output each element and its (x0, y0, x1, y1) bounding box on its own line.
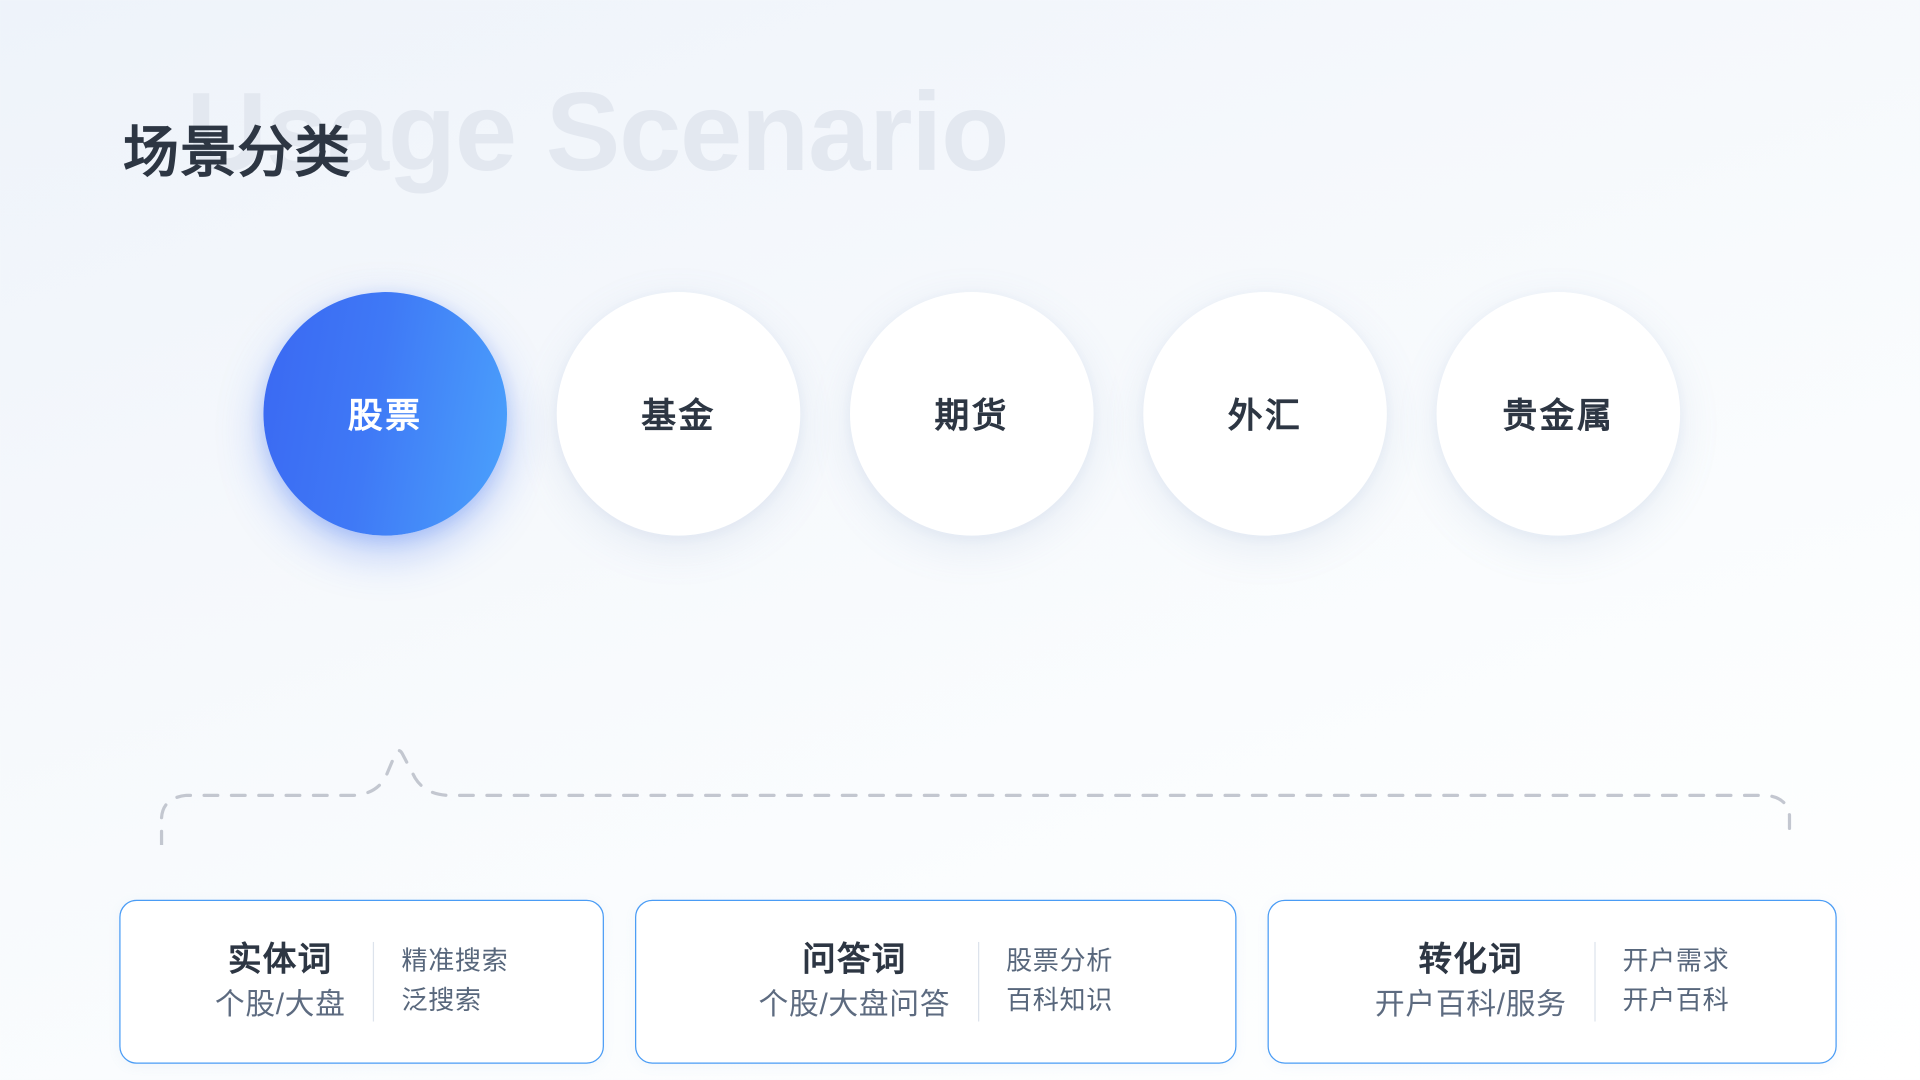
keyword-card-conversion[interactable]: 转化词 开户百科/服务 开户需求 开户百科 (1268, 900, 1837, 1064)
card-tag: 开户百科 (1622, 987, 1729, 1017)
page-title: 场景分类 (123, 121, 352, 185)
card-tag-group: 精准搜索 泛搜索 (374, 947, 508, 1017)
card-subtitle: 开户百科/服务 (1375, 989, 1567, 1022)
scenario-tab-forex[interactable]: 外汇 (1143, 292, 1387, 536)
keyword-card-row: 实体词 个股/大盘 精准搜索 泛搜索 问答词 个股/大盘问答 股票分析 (119, 900, 1836, 1064)
card-tag: 泛搜索 (401, 987, 508, 1017)
scenario-tab-label: 股票 (348, 389, 423, 439)
scenario-tab-fund[interactable]: 基金 (557, 292, 801, 536)
usage-scenario-panel: Usage Scenario 场景分类 股票 基金 期货 外汇 贵金属 实体词 (0, 0, 1920, 1080)
card-tag: 股票分析 (1006, 947, 1113, 977)
scenario-tab-label: 基金 (641, 389, 716, 439)
card-tag-group: 股票分析 百科知识 (979, 947, 1113, 1017)
card-content: 实体词 个股/大盘 精准搜索 泛搜索 (215, 942, 508, 1022)
card-tag: 精准搜索 (401, 947, 508, 977)
panel-header: Usage Scenario 场景分类 (0, 0, 1920, 261)
card-title: 转化词 (1375, 942, 1567, 979)
scenario-tab-futures[interactable]: 期货 (850, 292, 1094, 536)
scenario-tab-row: 股票 基金 期货 外汇 贵金属 (263, 291, 1687, 537)
card-subtitle: 个股/大盘问答 (759, 989, 951, 1022)
keyword-card-qa[interactable]: 问答词 个股/大盘问答 股票分析 百科知识 (635, 900, 1236, 1064)
scenario-tab-precious-metal[interactable]: 贵金属 (1437, 292, 1681, 536)
card-content: 转化词 开户百科/服务 开户需求 开户百科 (1375, 942, 1729, 1022)
dashed-bracket-connector-icon (149, 721, 1814, 845)
card-tag-group: 开户需求 开户百科 (1595, 947, 1729, 1017)
card-title: 问答词 (759, 942, 951, 979)
card-primary-group: 问答词 个股/大盘问答 (759, 942, 978, 1022)
scenario-tab-label: 贵金属 (1502, 389, 1614, 439)
scenario-tab-stock[interactable]: 股票 (263, 292, 507, 536)
scenario-tab-label: 外汇 (1228, 389, 1303, 439)
card-content: 问答词 个股/大盘问答 股票分析 百科知识 (759, 942, 1113, 1022)
card-title: 实体词 (215, 942, 346, 979)
keyword-card-entity[interactable]: 实体词 个股/大盘 精准搜索 泛搜索 (119, 900, 604, 1064)
card-tag: 开户需求 (1622, 947, 1729, 977)
card-tag: 百科知识 (1006, 987, 1113, 1017)
card-subtitle: 个股/大盘 (215, 989, 346, 1022)
card-primary-group: 转化词 开户百科/服务 (1375, 942, 1594, 1022)
scenario-tab-label: 期货 (934, 389, 1009, 439)
card-primary-group: 实体词 个股/大盘 (215, 942, 373, 1022)
